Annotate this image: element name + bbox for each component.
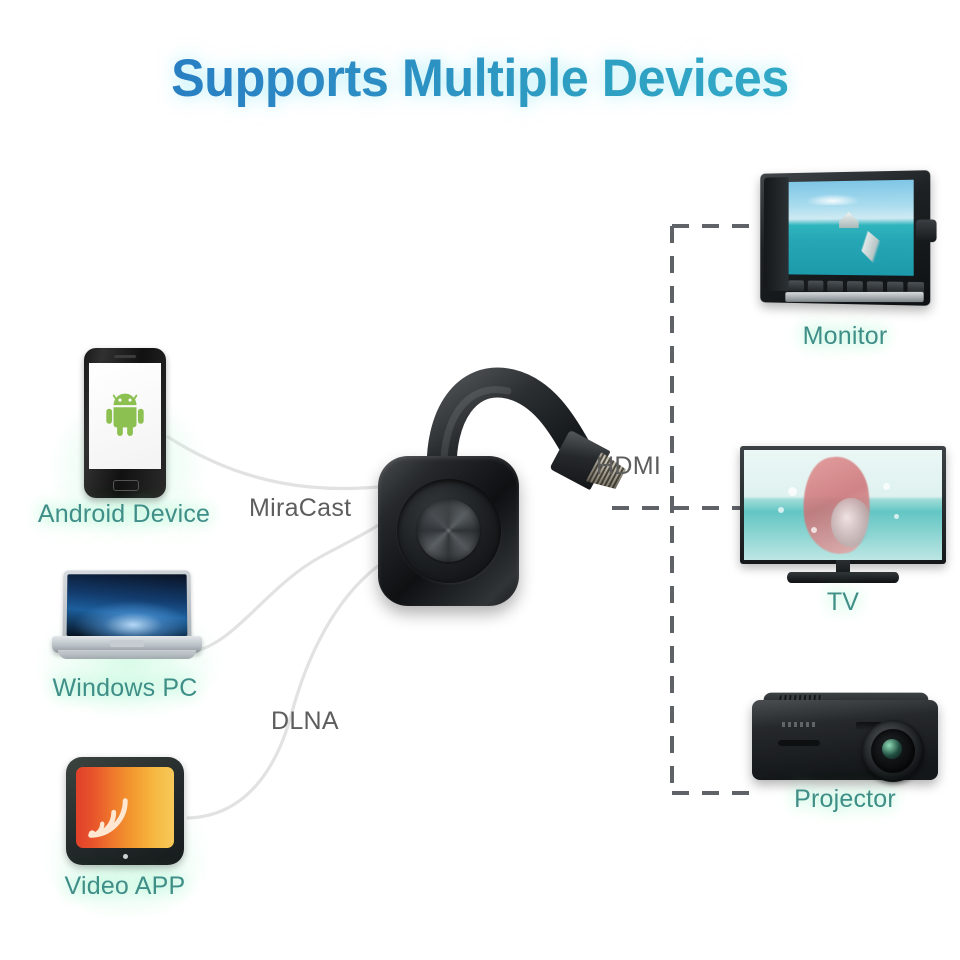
tv-stand-base xyxy=(787,572,899,583)
monitor-screen xyxy=(789,180,914,276)
tablet-cast-icon xyxy=(66,757,184,865)
wire-android xyxy=(168,437,378,489)
monitor-base xyxy=(785,292,923,302)
wireless-display-dongle[interactable] xyxy=(378,456,519,606)
monitor-mount-knob xyxy=(916,219,937,242)
laptop-trackpad xyxy=(110,640,144,647)
tv-screen xyxy=(744,450,942,560)
car-monitor-icon xyxy=(757,172,929,312)
tv-image-highlight xyxy=(831,498,871,546)
laptop-wallpaper-rays xyxy=(67,582,188,636)
phone-screen xyxy=(89,363,161,469)
infographic-canvas: Supports Multiple Devices xyxy=(0,0,960,960)
laptop-screen xyxy=(67,574,188,636)
monitor-image-hut xyxy=(839,212,859,228)
label-video-app: Video APP xyxy=(0,872,250,901)
tablet-camera-dot xyxy=(123,854,128,859)
dongle-center-button[interactable] xyxy=(417,499,480,562)
monitor-image-pier xyxy=(835,224,908,264)
monitor-sun-hood xyxy=(764,177,789,291)
projector-icon xyxy=(752,690,938,786)
phone-home-button xyxy=(113,480,139,491)
label-tv: TV xyxy=(740,588,946,617)
laptop-foot xyxy=(58,650,196,659)
flat-tv-icon xyxy=(740,446,946,588)
laptop-icon xyxy=(52,570,202,666)
projector-front-slot xyxy=(778,740,820,746)
android-phone-icon xyxy=(84,348,166,498)
page-title: Supports Multiple Devices xyxy=(24,48,936,109)
label-android-device: Android Device xyxy=(0,500,248,529)
label-dlna: DLNA xyxy=(271,707,339,736)
monitor-image-cloud xyxy=(806,194,860,206)
projector-body xyxy=(752,700,938,780)
tv-frame xyxy=(740,446,946,564)
label-monitor: Monitor xyxy=(740,322,950,351)
monitor-body xyxy=(760,170,930,306)
label-hdmi: HDMI xyxy=(596,452,661,481)
projector-lens-icon xyxy=(862,720,924,782)
projector-brand-mark xyxy=(782,722,818,727)
label-windows-pc: Windows PC xyxy=(0,674,250,703)
android-robot-icon xyxy=(102,390,148,436)
label-miracast: MiraCast xyxy=(249,494,351,523)
laptop-lid xyxy=(63,570,192,640)
tablet-screen xyxy=(76,767,174,848)
phone-speaker-icon xyxy=(114,355,136,358)
wire-windows xyxy=(196,524,380,651)
dongle-button-ring xyxy=(397,479,501,583)
cast-waves-icon xyxy=(85,795,131,841)
label-projector: Projector xyxy=(740,785,950,814)
